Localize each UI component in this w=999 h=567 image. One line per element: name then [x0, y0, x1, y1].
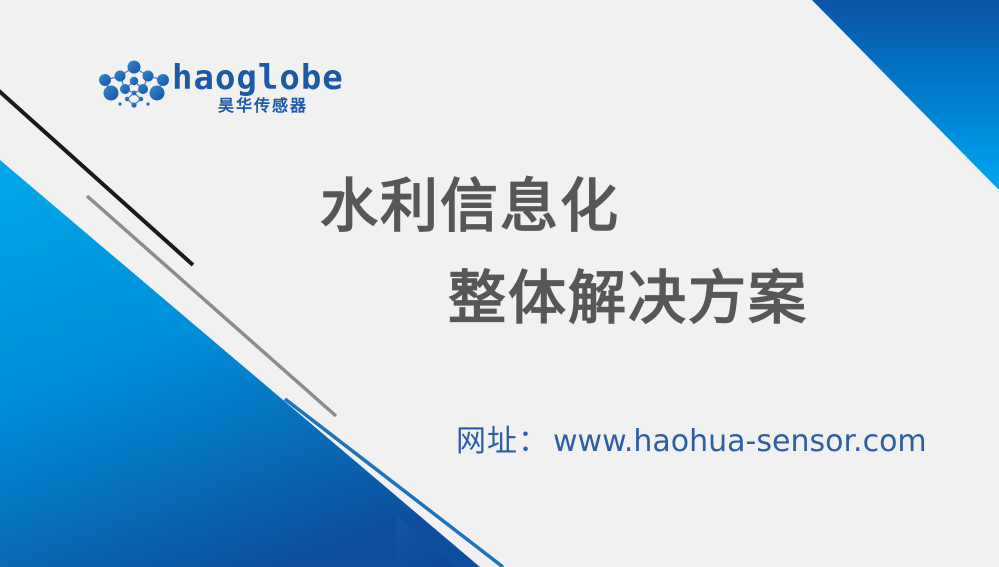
title-line-1: 水利信息化: [320, 160, 900, 252]
website-url[interactable]: www.haohua-sensor.com: [553, 424, 927, 459]
slide-title: 水利信息化 整体解决方案: [300, 160, 900, 344]
logo-wordmark: haoglobe: [172, 58, 344, 98]
haoglobe-molecule-mark-icon: [96, 60, 172, 112]
logo-subtitle: 昊华传感器: [218, 96, 308, 116]
website-label: 网址：: [456, 424, 549, 459]
title-line-2: 整体解决方案: [448, 252, 900, 344]
company-logo[interactable]: haoglobe 昊华传感器: [96, 58, 321, 124]
presentation-slide: haoglobe 昊华传感器 水利信息化 整体解决方案 网址：www.haohu…: [0, 0, 999, 567]
website-line: 网址：www.haohua-sensor.com: [456, 420, 927, 469]
